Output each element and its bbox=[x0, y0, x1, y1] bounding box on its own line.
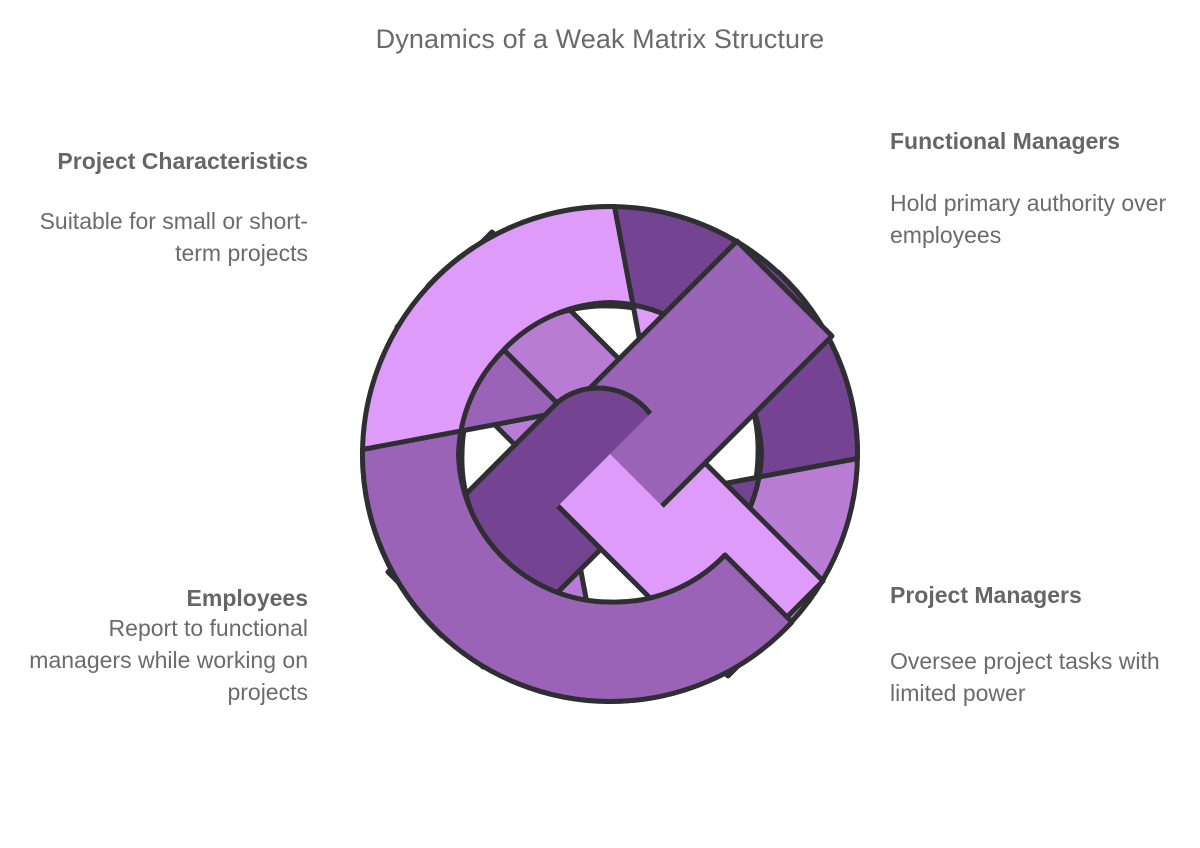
quadrant-body-functional-managers: Hold primary authority over employees bbox=[890, 188, 1190, 251]
quadrant-body-project-characteristics: Suitable for small or short-term project… bbox=[8, 206, 308, 269]
knot-weave bbox=[362, 206, 857, 701]
quadrant-body-employees: Report to functional managers while work… bbox=[8, 613, 308, 708]
quadrant-project-characteristics: Project Characteristics Suitable for sma… bbox=[8, 146, 308, 270]
quadrant-heading-project-characteristics: Project Characteristics bbox=[8, 146, 308, 176]
quadrant-employees: Employees Report to functional managers … bbox=[8, 583, 308, 709]
quadrant-heading-project-managers: Project Managers bbox=[890, 580, 1190, 610]
quadrant-heading-employees: Employees bbox=[8, 583, 308, 613]
quadrant-body-project-managers: Oversee project tasks with limited power bbox=[890, 646, 1190, 709]
page-title: Dynamics of a Weak Matrix Structure bbox=[0, 24, 1200, 55]
quadrant-project-managers: Project Managers Oversee project tasks w… bbox=[890, 580, 1190, 710]
weak-matrix-knot-diagram bbox=[352, 196, 868, 712]
diagram-canvas: Dynamics of a Weak Matrix Structure bbox=[0, 0, 1200, 848]
quadrant-functional-managers: Functional Managers Hold primary authori… bbox=[890, 126, 1190, 252]
knot-strand-group bbox=[362, 206, 857, 701]
quadrant-heading-functional-managers: Functional Managers bbox=[890, 126, 1190, 156]
